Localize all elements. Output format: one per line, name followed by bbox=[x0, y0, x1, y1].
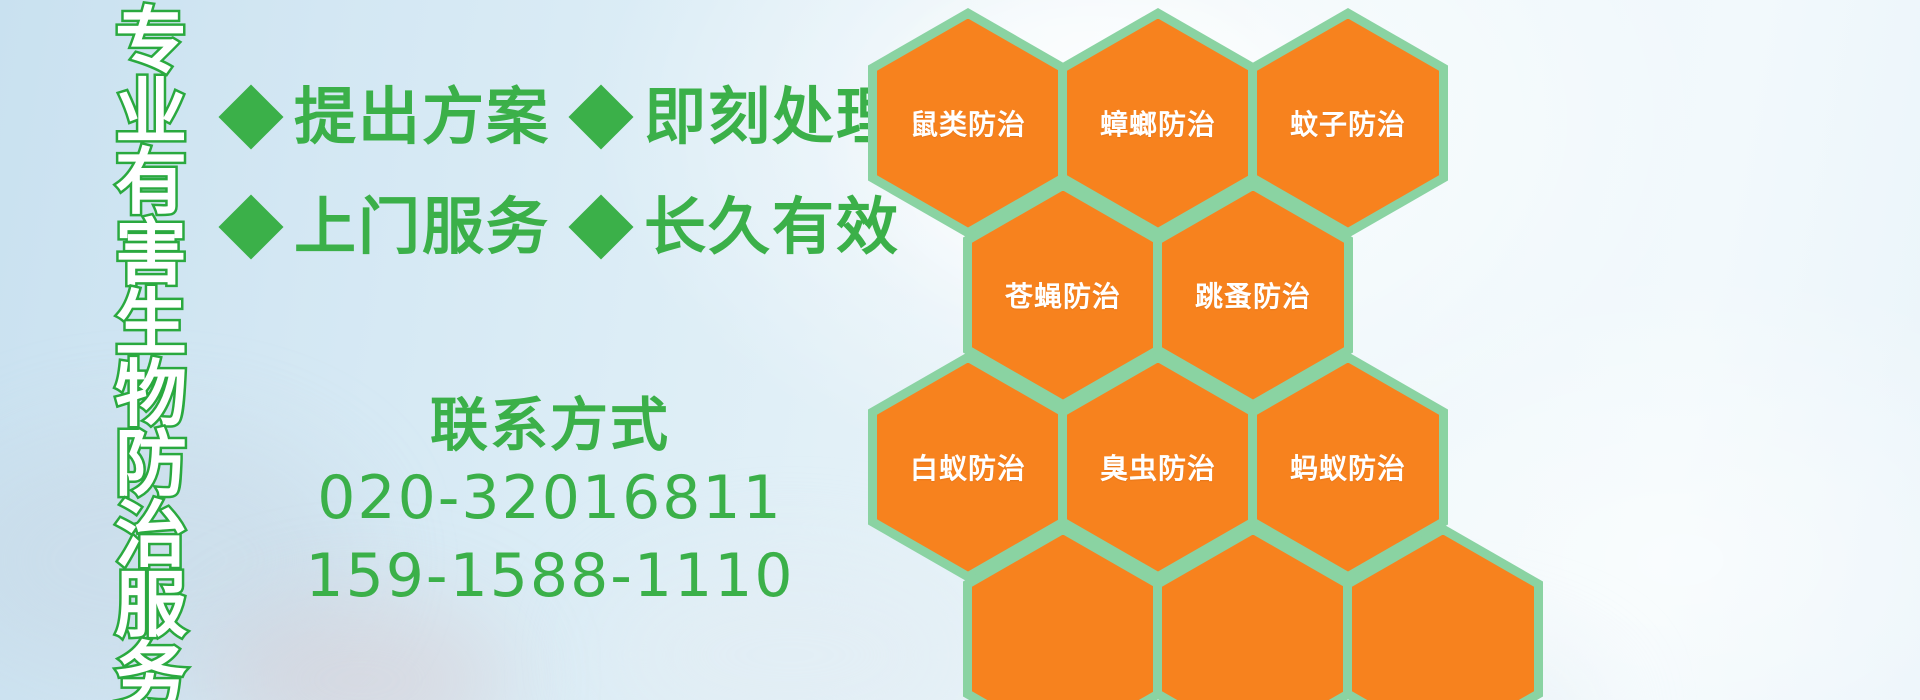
hex-label: 白蚁防治 bbox=[910, 447, 1026, 487]
feature-label: 上门服务 bbox=[294, 196, 550, 258]
vertical-slogan-char: 有 bbox=[115, 147, 187, 218]
hex-inner: 蚂蚁防治 bbox=[1257, 363, 1439, 572]
hex-label: 蚊子防治 bbox=[1290, 103, 1406, 143]
hex-label: 臭虫防治 bbox=[1100, 447, 1216, 487]
vertical-slogan-char: 业 bbox=[115, 77, 187, 148]
hex-inner: 鼠类防治 bbox=[877, 19, 1059, 228]
feature-label: 提出方案 bbox=[294, 86, 550, 148]
hex-inner: 蚊子防治 bbox=[1257, 19, 1439, 228]
vertical-slogan-char: 防 bbox=[115, 429, 187, 500]
hex-label: 蟑螂防治 bbox=[1100, 103, 1216, 143]
hex-inner: 跳蚤防治 bbox=[1162, 191, 1344, 400]
diamond-icon bbox=[568, 194, 633, 259]
hex-inner: 白蚁防治 bbox=[877, 363, 1059, 572]
diamond-icon bbox=[218, 194, 283, 259]
phone-number-mobile[interactable]: 159-1588-1110 bbox=[220, 537, 880, 615]
diamond-icon bbox=[218, 84, 283, 149]
hex-inner: 蟑螂防治 bbox=[1067, 19, 1249, 228]
hex-label: 鼠类防治 bbox=[910, 103, 1026, 143]
vertical-slogan-char: 务 bbox=[115, 641, 187, 700]
hex-label: 跳蚤防治 bbox=[1195, 275, 1311, 315]
hex-label: 苍蝇防治 bbox=[1005, 275, 1121, 315]
vertical-slogan: 专 业 有 害 生 物 防 治 服 务 bbox=[96, 6, 206, 696]
contact-block: 联系方式 020-32016811 159-1588-1110 bbox=[220, 392, 880, 615]
vertical-slogan-char: 害 bbox=[115, 218, 187, 289]
service-honeycomb: 鼠类防治 蟑螂防治 蚊子防治 苍蝇防治 跳蚤防治 白蚁防治 bbox=[860, 0, 1920, 700]
feature-row-2: 上门服务 长久有效 bbox=[228, 196, 900, 258]
diamond-icon bbox=[568, 84, 633, 149]
vertical-slogan-char: 专 bbox=[115, 6, 187, 77]
contact-title: 联系方式 bbox=[220, 392, 880, 459]
background-blob-pink bbox=[210, 600, 510, 700]
vertical-slogan-char: 生 bbox=[115, 288, 187, 359]
vertical-slogan-char: 治 bbox=[115, 500, 187, 571]
hex-inner: 苍蝇防治 bbox=[972, 191, 1154, 400]
hex-label: 蚂蚁防治 bbox=[1290, 447, 1406, 487]
feature-row-1: 提出方案 即刻处理 bbox=[228, 86, 900, 148]
vertical-slogan-char: 物 bbox=[115, 359, 187, 430]
vertical-slogan-char: 服 bbox=[115, 570, 187, 641]
pest-control-banner: 专 业 有 害 生 物 防 治 服 务 提出方案 即刻处理 上门服务 长久有效 … bbox=[0, 0, 1920, 700]
hex-inner: 臭虫防治 bbox=[1067, 363, 1249, 572]
phone-number-landline[interactable]: 020-32016811 bbox=[220, 459, 880, 537]
